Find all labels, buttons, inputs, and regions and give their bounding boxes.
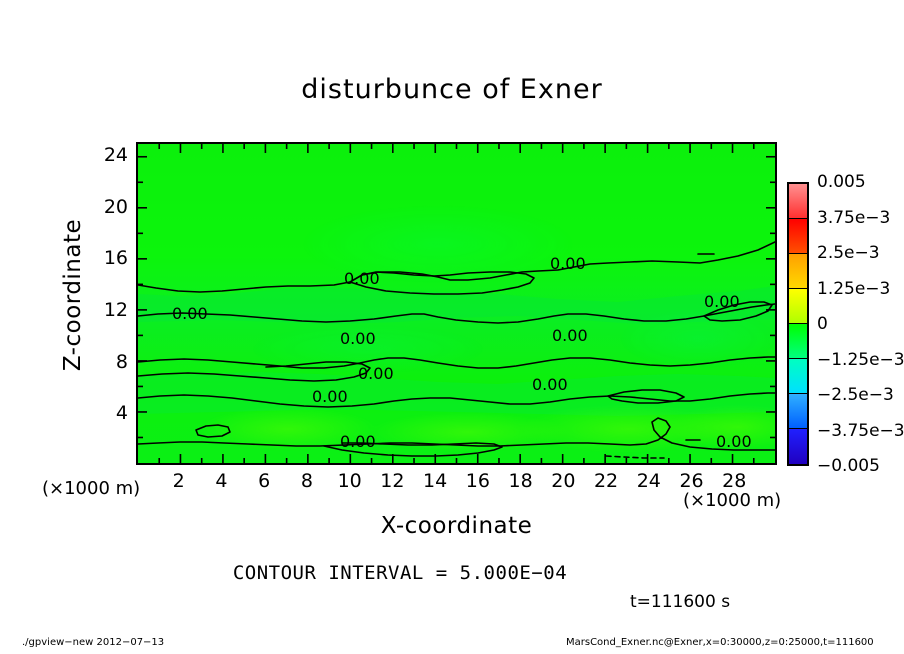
contour-label-7: 0.00 <box>358 364 394 383</box>
contour-label-8: 0.00 <box>312 387 348 406</box>
x-axis-title: X-coordinate <box>136 513 777 539</box>
colorbar-label-0: 0.005 <box>817 172 866 192</box>
x-tick-label-20: 20 <box>543 470 583 492</box>
colorbar-label-5: −1.25e−3 <box>817 350 904 370</box>
colorbar-band-4 <box>789 324 807 359</box>
x-tick-label-24: 24 <box>629 470 669 492</box>
colorbar-label-2: 2.5e−3 <box>817 243 880 263</box>
y-tick-label-16: 16 <box>88 247 128 269</box>
colorbar-gradient-strip <box>787 182 809 466</box>
y-axis-title: Z-coordinate <box>60 195 86 395</box>
contour-label-10: 0.00 <box>340 432 376 451</box>
colorbar-label-6: −2.5e−3 <box>817 385 894 405</box>
y-tick-label-12: 12 <box>88 299 128 321</box>
x-tick-label-16: 16 <box>458 470 498 492</box>
x-tick-label-4: 4 <box>201 470 241 492</box>
x-axis-unit-right: (×1000 m) <box>683 490 781 511</box>
x-tick-label-22: 22 <box>586 470 626 492</box>
colorbar-band-7 <box>789 429 807 464</box>
chart-title: disturbunce of Exner <box>0 74 904 105</box>
x-tick-label-14: 14 <box>415 470 455 492</box>
colorbar-label-1: 3.75e−3 <box>817 208 890 228</box>
colorbar-label-7: −3.75e−3 <box>817 421 904 441</box>
contour-label-5: 0.00 <box>340 329 376 348</box>
contour-plot-area: 0.00 0.00 0.00 0.00 0.00 0.00 0.00 0.00 … <box>136 142 777 465</box>
colorbar-band-1 <box>789 219 807 254</box>
contour-label-4: 0.00 <box>704 292 740 311</box>
colorbar-label-8: −0.005 <box>817 456 880 476</box>
colorbar-band-0 <box>789 184 807 219</box>
colorbar-label-4: 0 <box>817 314 828 334</box>
contour-label-3: 0.00 <box>172 304 208 323</box>
contour-plot-canvas <box>138 144 775 463</box>
x-tick-label-2: 2 <box>159 470 199 492</box>
contour-label-1: 0.00 <box>344 269 380 288</box>
x-tick-label-12: 12 <box>372 470 412 492</box>
y-tick-label-24: 24 <box>88 144 128 166</box>
colorbar-band-5 <box>789 359 807 394</box>
x-tick-label-28: 28 <box>714 470 754 492</box>
colorbar <box>787 182 809 466</box>
time-label: t=111600 s <box>630 592 730 612</box>
x-tick-label-6: 6 <box>244 470 284 492</box>
contour-label-6: 0.00 <box>552 326 588 345</box>
contour-label-9: 0.00 <box>532 375 568 394</box>
x-tick-label-18: 18 <box>501 470 541 492</box>
colorbar-band-2 <box>789 254 807 289</box>
y-tick-label-20: 20 <box>88 196 128 218</box>
contour-label-11: 0.00 <box>716 432 752 451</box>
footer-command-and-date: ./gpview−new 2012−07−13 <box>22 637 164 648</box>
x-axis-unit-left: (×1000 m) <box>42 478 140 499</box>
y-tick-label-4: 4 <box>88 402 128 424</box>
colorbar-label-3: 1.25e−3 <box>817 279 890 299</box>
contour-interval-note: CONTOUR INTERVAL = 5.000E−04 <box>0 562 800 584</box>
y-tick-label-8: 8 <box>88 351 128 373</box>
footer-dataset-spec: MarsCond_Exner.nc@Exner,x=0:30000,z=0:25… <box>566 637 874 648</box>
x-tick-label-10: 10 <box>330 470 370 492</box>
colorbar-band-3 <box>789 289 807 324</box>
contour-label-2: 0.00 <box>550 254 586 273</box>
colorbar-band-6 <box>789 394 807 429</box>
x-tick-label-8: 8 <box>287 470 327 492</box>
x-tick-label-26: 26 <box>672 470 712 492</box>
